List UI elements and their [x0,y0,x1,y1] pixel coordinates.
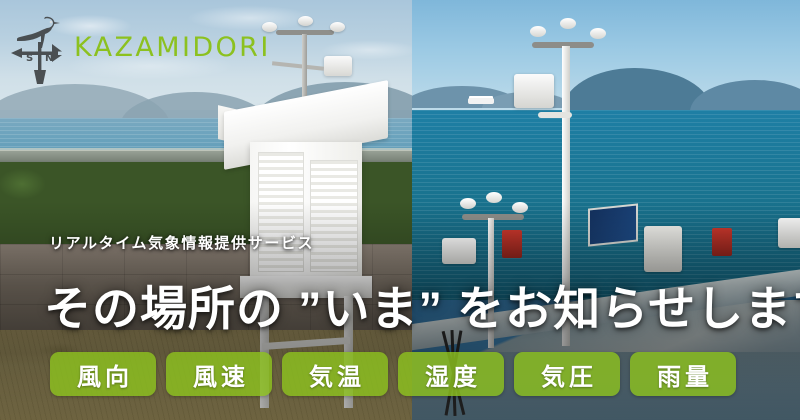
anemometer-cup [330,22,345,32]
shelter-louvers [258,152,304,272]
solar-panel [588,203,638,246]
badge-rainfall[interactable]: 雨量 [630,352,736,396]
equipment-cabinet [644,226,682,272]
compass-south-label: S [26,53,33,64]
hero-headline: その場所の ”いま” をお知らせします。 [44,270,800,339]
shelter-body [250,142,362,282]
badge-temperature[interactable]: 気温 [282,352,388,396]
equipment-box [712,228,732,256]
compass-north-label: N [45,53,53,64]
brand-logo[interactable]: S N KAZAMIDORI [8,8,271,86]
anemometer-cup [590,28,606,39]
brand-name: KAZAMIDORI [74,34,271,61]
shelter-louvers [310,160,358,272]
feature-badge-list: 風向 風速 気温 湿度 気圧 雨量 [50,352,736,396]
sensor-arm [538,112,572,118]
sensor-mast [302,34,307,104]
badge-wind-speed[interactable]: 風速 [166,352,272,396]
badge-pressure[interactable]: 気圧 [514,352,620,396]
anemometer-cup [530,26,546,37]
anemometer-cup [512,202,528,213]
badge-humidity[interactable]: 湿度 [398,352,504,396]
anemometer-cup [486,192,502,203]
equipment-box [502,230,522,258]
sensor-box [442,238,476,264]
ship [468,98,494,104]
badge-wind-direction[interactable]: 風向 [50,352,156,396]
hero-subtitle: リアルタイム気象情報提供サービス [49,232,314,253]
sensor-box [778,218,800,248]
anemometer-cup [298,16,313,26]
sensor-box [324,56,352,76]
sensor-box [514,74,554,108]
anemometer-cup [460,198,476,209]
weathervane-bird-icon: S N [8,8,66,86]
anemometer-cup [560,18,576,29]
hero-banner: S N KAZAMIDORI リアルタイム気象情報提供サービス その場所の ”い… [0,0,800,420]
